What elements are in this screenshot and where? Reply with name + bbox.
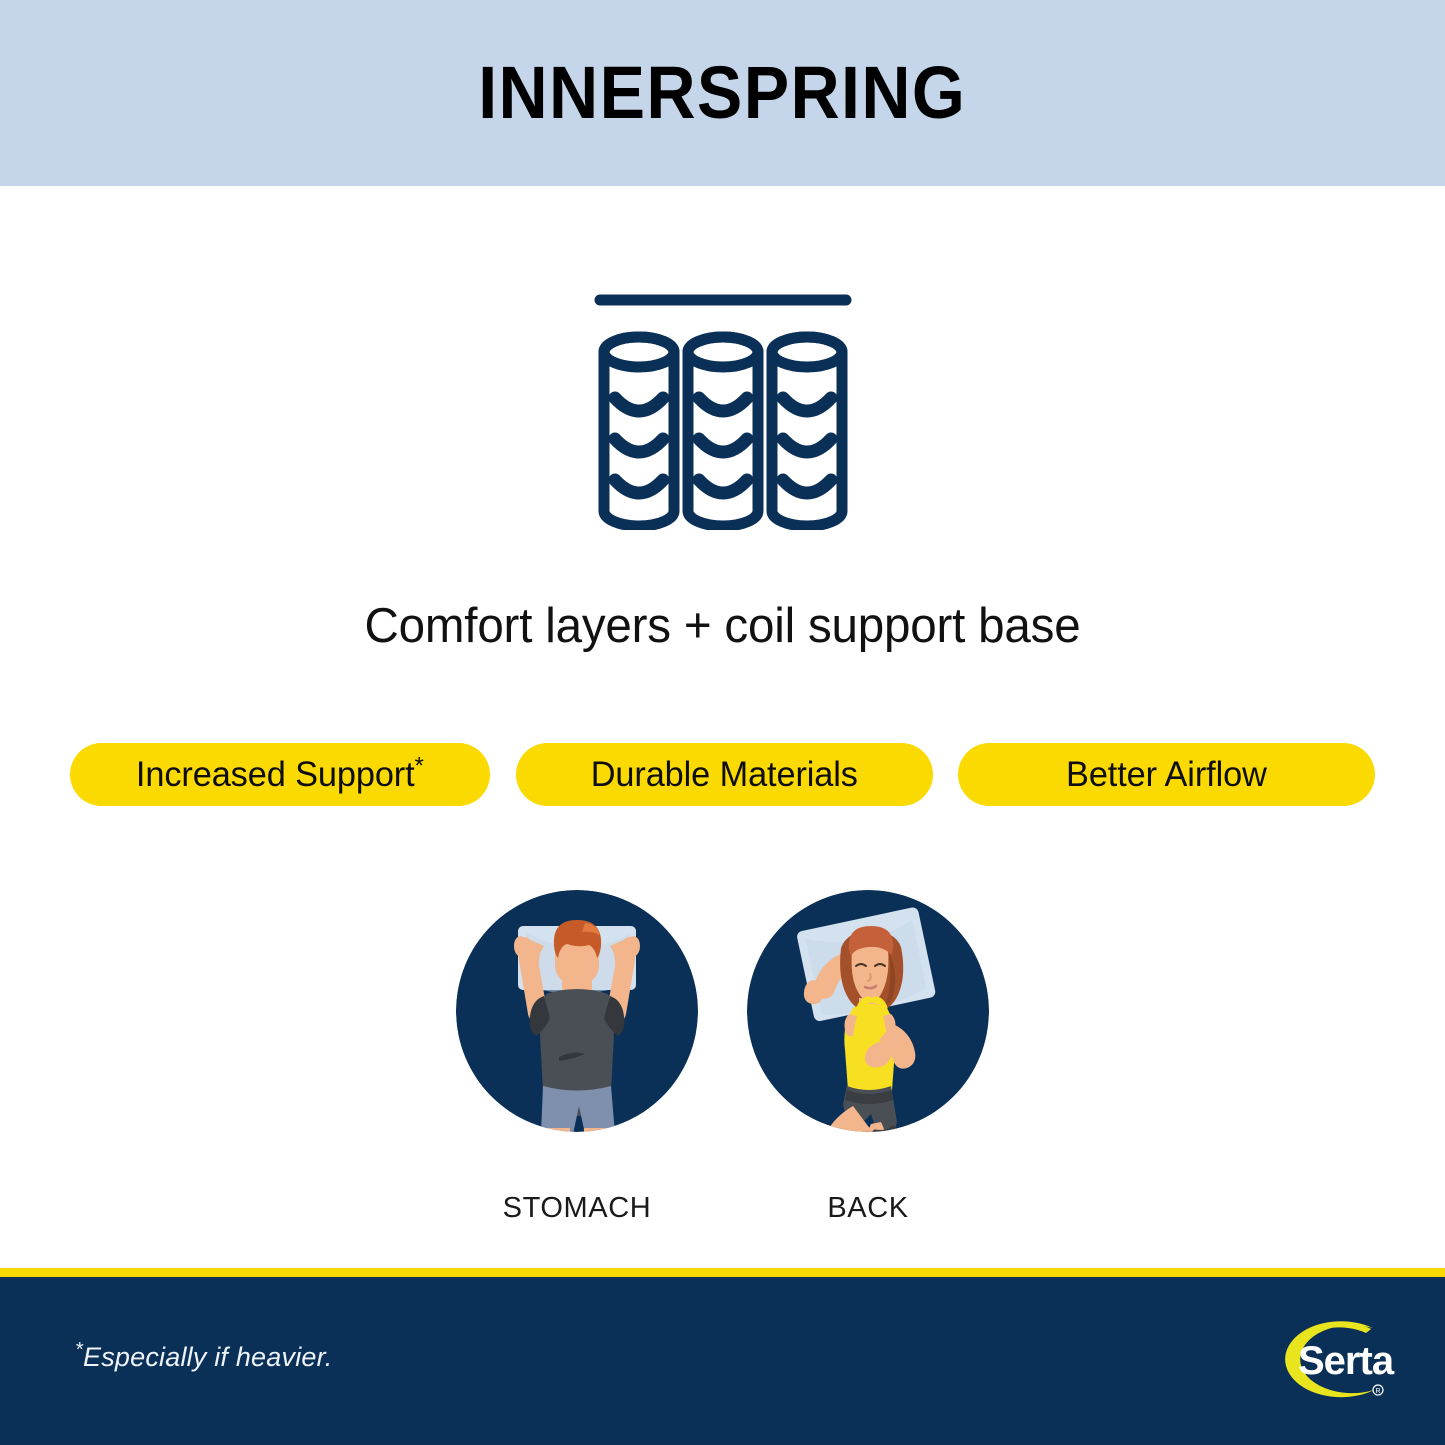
header-band: INNERSPRING <box>0 0 1445 186</box>
sleep-position-row <box>0 880 1445 1150</box>
footnote-marker: * <box>75 1339 83 1361</box>
footnote-body: Especially if heavier. <box>83 1342 333 1372</box>
coil-icon-container <box>0 275 1445 540</box>
feature-pill-label: Increased Support* <box>136 755 424 795</box>
coil-springs-icon <box>593 280 853 535</box>
page-title: INNERSPRING <box>478 56 966 130</box>
sleep-position-back <box>747 890 989 1132</box>
sleep-position-labels: STOMACH BACK <box>0 1192 1445 1232</box>
feature-pill-increased-support[interactable]: Increased Support* <box>70 743 490 806</box>
feature-pill-label: Better Airflow <box>1066 755 1267 795</box>
sleep-position-label-stomach: STOMACH <box>456 1192 698 1225</box>
feature-pill-durable-materials[interactable]: Durable Materials <box>516 743 933 806</box>
feature-pill-better-airflow[interactable]: Better Airflow <box>958 743 1375 806</box>
subtitle: Comfort layers + coil support base <box>22 598 1424 654</box>
sleep-position-stomach <box>456 890 698 1132</box>
svg-text:R: R <box>1375 1388 1380 1395</box>
svg-text:Serta: Serta <box>1298 1339 1395 1383</box>
back-sleeper-illustration <box>747 890 989 1132</box>
stomach-sleeper-illustration <box>456 890 698 1132</box>
feature-pill-row: Increased Support* Durable Materials Bet… <box>70 743 1375 806</box>
footer-accent-stripe <box>0 1268 1445 1277</box>
footnote-text: *Especially if heavier. <box>75 1342 333 1373</box>
serta-logo[interactable]: Serta R <box>1270 1306 1395 1416</box>
feature-pill-label: Durable Materials <box>590 755 857 795</box>
sleep-position-label-back: BACK <box>747 1192 989 1225</box>
